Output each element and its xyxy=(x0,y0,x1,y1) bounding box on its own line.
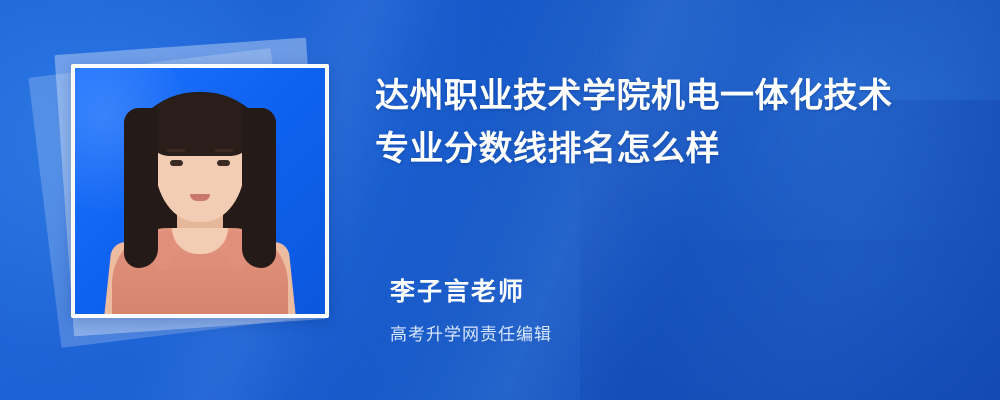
headline-line-1: 达州职业技术学院机电一体化技术 xyxy=(375,70,965,123)
portrait-photo xyxy=(75,68,325,314)
portrait-brow-left xyxy=(167,149,185,152)
headline-block: 达州职业技术学院机电一体化技术 专业分数线排名怎么样 xyxy=(375,70,965,175)
portrait-eye-right xyxy=(217,160,230,166)
portrait-eye-left xyxy=(170,160,183,166)
photo-card-stack xyxy=(40,28,340,358)
portrait-hair-front xyxy=(147,94,253,156)
author-name: 李子言老师 xyxy=(390,272,950,308)
article-banner: 达州职业技术学院机电一体化技术 专业分数线排名怎么样 李子言老师 高考升学网责任… xyxy=(0,0,1000,400)
portrait-brow-right xyxy=(215,149,233,152)
portrait-hair-side-right xyxy=(242,108,276,268)
byline-block: 李子言老师 高考升学网责任编辑 xyxy=(390,272,950,345)
portrait-hair-side-left xyxy=(124,108,158,268)
author-role: 高考升学网责任编辑 xyxy=(390,320,950,345)
headline-line-2: 专业分数线排名怎么样 xyxy=(375,123,965,176)
photo-frame xyxy=(71,64,329,318)
